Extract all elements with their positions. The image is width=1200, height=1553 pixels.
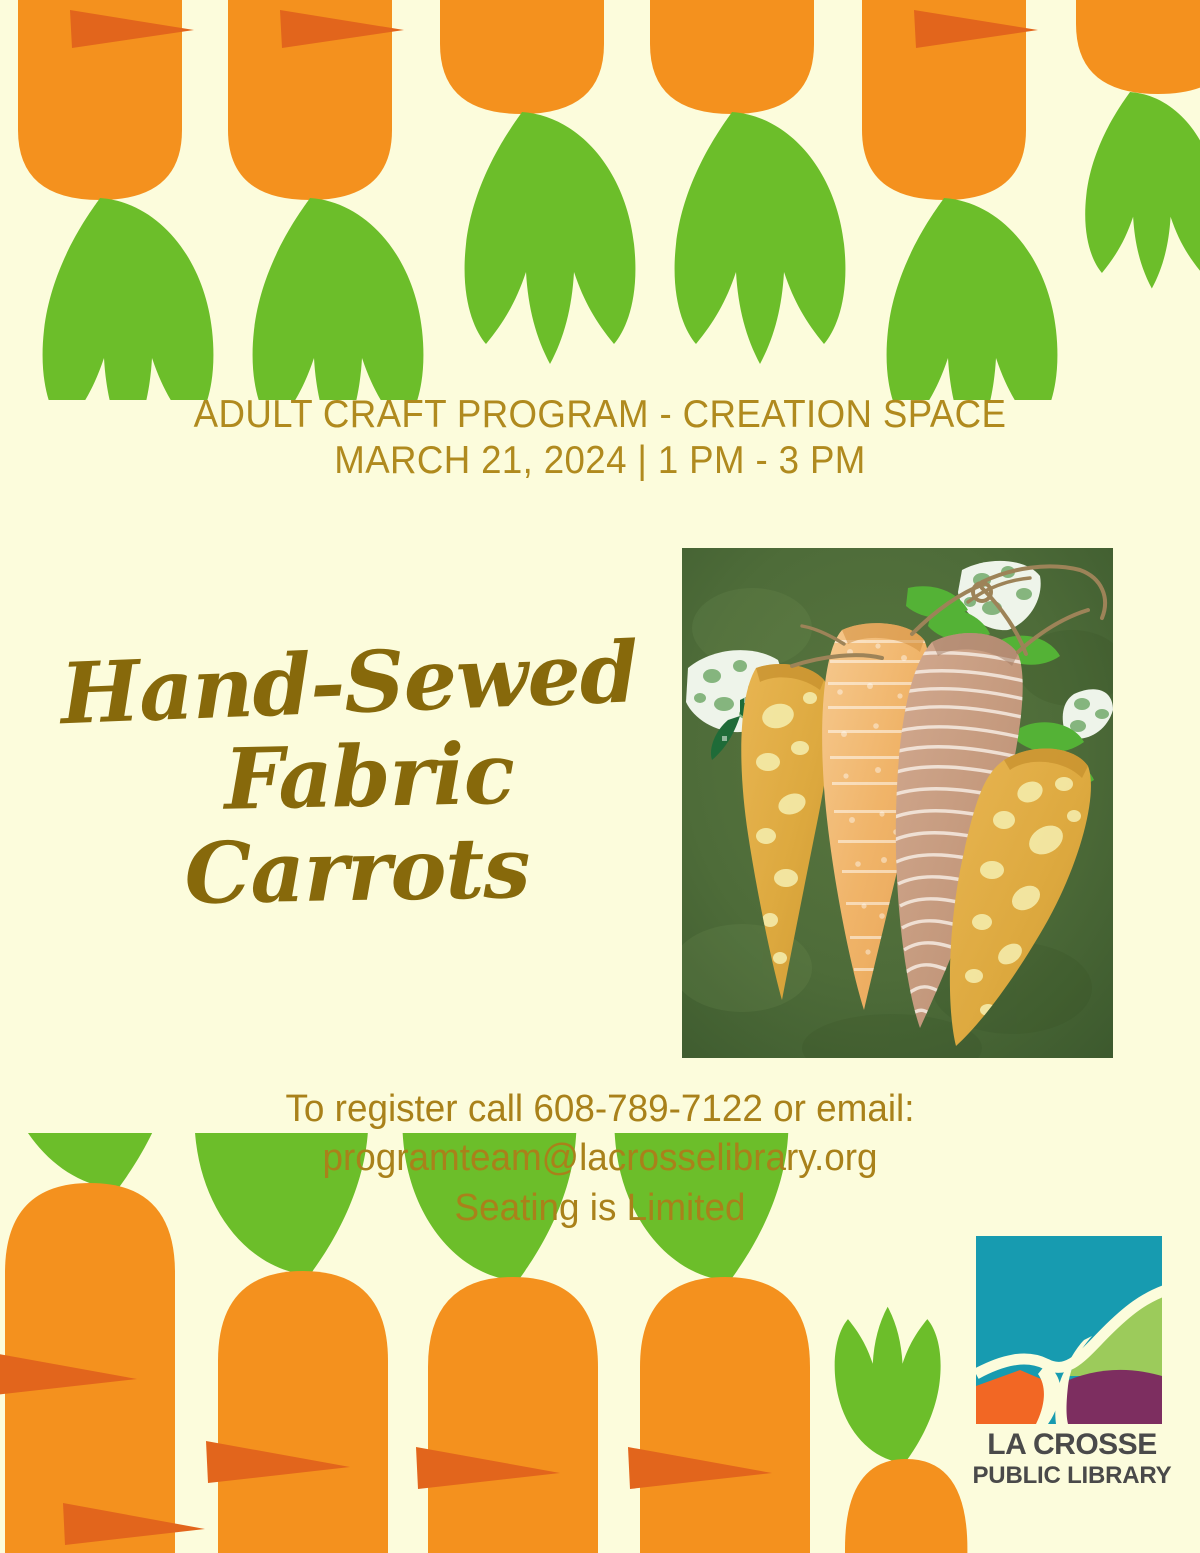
register-email-line[interactable]: programteam@lacrosselibrary.org: [154, 1134, 1046, 1183]
poster-canvas: ADULT CRAFT PROGRAM - CREATION SPACE MAR…: [0, 0, 1200, 1553]
decor-leaf-top-2: [253, 198, 424, 400]
decor-leaf-top-4: [675, 112, 846, 364]
library-logo: LA CROSSE PUBLIC LIBRARY: [972, 1236, 1172, 1506]
program-type-line: ADULT CRAFT PROGRAM - CREATION SPACE: [36, 392, 1164, 438]
decor-carrot-top-4: [650, 0, 826, 114]
decor-carrot-top-6: [1076, 0, 1200, 94]
title-line-3: Carrots: [51, 819, 663, 924]
decor-leaf-top-3: [465, 112, 636, 364]
decor-carrot-top-3: [440, 0, 616, 114]
decor-carrot-bottom-4: [628, 1277, 840, 1553]
logo-name-line-1: LA CROSSE: [987, 1428, 1156, 1461]
decor-carrot-bottom-3: [416, 1277, 628, 1553]
decor-leaf-top-6: [1085, 92, 1200, 289]
decor-carrot-top-5: [862, 0, 1038, 200]
decor-carrot-top-1: [18, 0, 194, 200]
title-line-1: Hand-Sewed: [42, 625, 655, 742]
decor-leaf-top-5: [887, 198, 1058, 400]
decor-carrot-bottom-2: [206, 1271, 418, 1553]
page-title: Hand-Sewed Fabric Carrots: [50, 636, 660, 918]
top-carrot-border: [0, 0, 1200, 400]
registration-info: To register call 608-789-7122 or email: …: [140, 1085, 1060, 1233]
logo-mark: [976, 1236, 1166, 1424]
event-header: ADULT CRAFT PROGRAM - CREATION SPACE MAR…: [0, 392, 1200, 484]
decor-carrot-top-2: [228, 0, 404, 200]
decor-leaf-bottom-5: [835, 1307, 941, 1463]
logo-name-line-2: PUBLIC LIBRARY: [973, 1462, 1172, 1489]
seating-limited-line: Seating is Limited: [154, 1184, 1046, 1233]
decor-carrot-bottom-1: [0, 1183, 205, 1553]
date-time-line: MARCH 21, 2024 | 1 PM - 3 PM: [36, 438, 1164, 484]
decor-carrot-bottom-5: [836, 1459, 989, 1553]
fabric-carrots-photo: [682, 548, 1113, 1058]
decor-leaf-top-1: [43, 198, 214, 400]
title-line-2: Fabric: [63, 723, 675, 830]
register-call-line: To register call 608-789-7122 or email:: [154, 1085, 1046, 1134]
